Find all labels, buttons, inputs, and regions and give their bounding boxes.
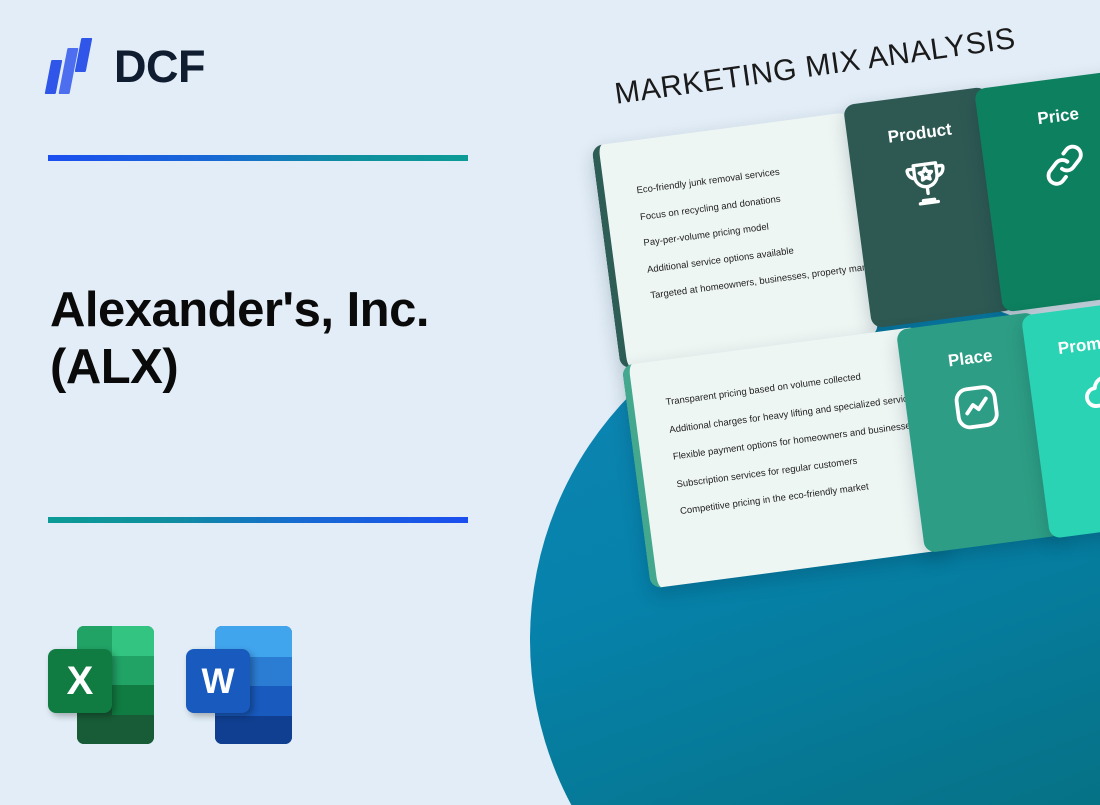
- logo-bar-3: [75, 38, 93, 72]
- download-icons: X W: [48, 618, 292, 748]
- divider-bottom: [48, 517, 468, 523]
- cover-page: DCF Alexander's, Inc. (ALX) X W: [0, 0, 1100, 805]
- word-file-icon[interactable]: W: [186, 618, 292, 748]
- product-bullets-card: Eco-friendly junk removal services Focus…: [591, 112, 878, 369]
- place-bullets-card: Transparent pricing based on volume coll…: [622, 326, 949, 588]
- excel-file-icon[interactable]: X: [48, 618, 154, 748]
- product-label: Product: [887, 120, 953, 148]
- divider-top: [48, 155, 468, 161]
- excel-badge-letter: X: [48, 649, 112, 713]
- page-title: Alexander's, Inc. (ALX): [50, 282, 520, 397]
- left-panel: DCF Alexander's, Inc. (ALX) X W: [0, 0, 560, 805]
- promotion-label: Promotion: [1057, 328, 1100, 359]
- price-label: Price: [1036, 104, 1080, 129]
- chart-square-icon: [944, 375, 1009, 440]
- word-badge-letter: W: [186, 649, 250, 713]
- marketing-mix-graphic: MARKETING MIX ANALYSIS Eco-friendly junk…: [505, 0, 1100, 805]
- brand-logo-text: DCF: [114, 44, 205, 89]
- trophy-icon: [894, 150, 959, 215]
- place-label: Place: [947, 346, 994, 372]
- cloud-icon: [1074, 360, 1100, 425]
- brand-logo[interactable]: DCF: [46, 38, 205, 94]
- bar-chart-logo-icon: [46, 38, 100, 94]
- link-icon: [1032, 133, 1097, 198]
